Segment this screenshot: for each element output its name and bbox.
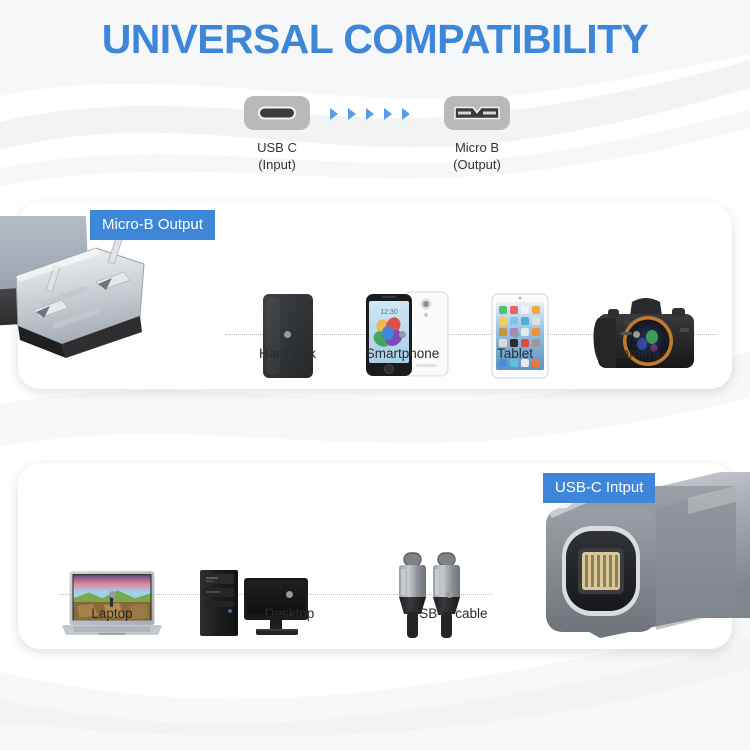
device-strip-usb-c: Laptop [60,490,492,640]
device-axis-dot [109,591,116,598]
device-label-hard-disk: Hard disk [225,346,350,361]
device-label-smartphone: Smartphone [345,346,460,361]
device-cell-smartphone: 12:30 [350,288,465,380]
device-axis-dot [286,591,293,598]
page-title: UNIVERSAL COMPATIBILITY [0,16,750,63]
device-cell-camera [575,288,717,380]
chevron-right-icon [384,108,392,120]
usb-c-port-shape [258,107,296,120]
micro-b-port-shape [454,107,500,120]
flow-label-micro-b-line2: (Output) [402,156,552,173]
device-strip-micro-b: Hard disk [225,230,717,380]
micro-b-plug-icon [444,96,510,130]
flow-label-usb-c-line2: (Input) [202,156,352,173]
chevron-right-icon [348,108,356,120]
usb-c-cable-icon [365,548,492,640]
device-label-usb-c-cable: USB-C cable [385,606,512,621]
section-badge-micro-b-output: Micro-B Output [90,210,215,240]
device-label-tablet: Tablet [460,346,570,361]
device-label-camera: Camera [575,346,697,361]
chevron-right-icon [366,108,374,120]
device-axis-dot [399,331,406,338]
camera-icon [575,288,717,380]
tablet-icon [465,288,575,380]
flow-label-micro-b-line1: Micro B [402,139,552,156]
chevron-right-icon [330,108,338,120]
device-axis-dot [284,331,291,338]
device-axis-dot [446,591,453,598]
section-badge-usb-c-input: USB-C Intput [543,473,655,503]
device-label-laptop: Laptop [60,606,164,621]
svg-text:12:30: 12:30 [380,309,398,316]
device-cell-tablet [465,288,575,380]
device-cell-desktop [185,548,320,640]
flow-label-usb-c-line1: USB C [202,139,352,156]
device-label-desktop: Desktop [222,606,357,621]
device-axis-dot [633,331,640,338]
usb-c-plug-icon [244,96,310,130]
smartphone-icon: 12:30 [350,288,465,380]
flow-item-micro-b: Micro B (Output) [402,96,552,173]
desktop-computer-icon [185,548,320,640]
device-axis-dot [512,331,519,338]
flow-arrows-group [330,106,410,122]
connector-flow-row: USB C (Input) Micro B (Output) [0,96,750,186]
device-cell-usb-c-cable [365,548,492,640]
